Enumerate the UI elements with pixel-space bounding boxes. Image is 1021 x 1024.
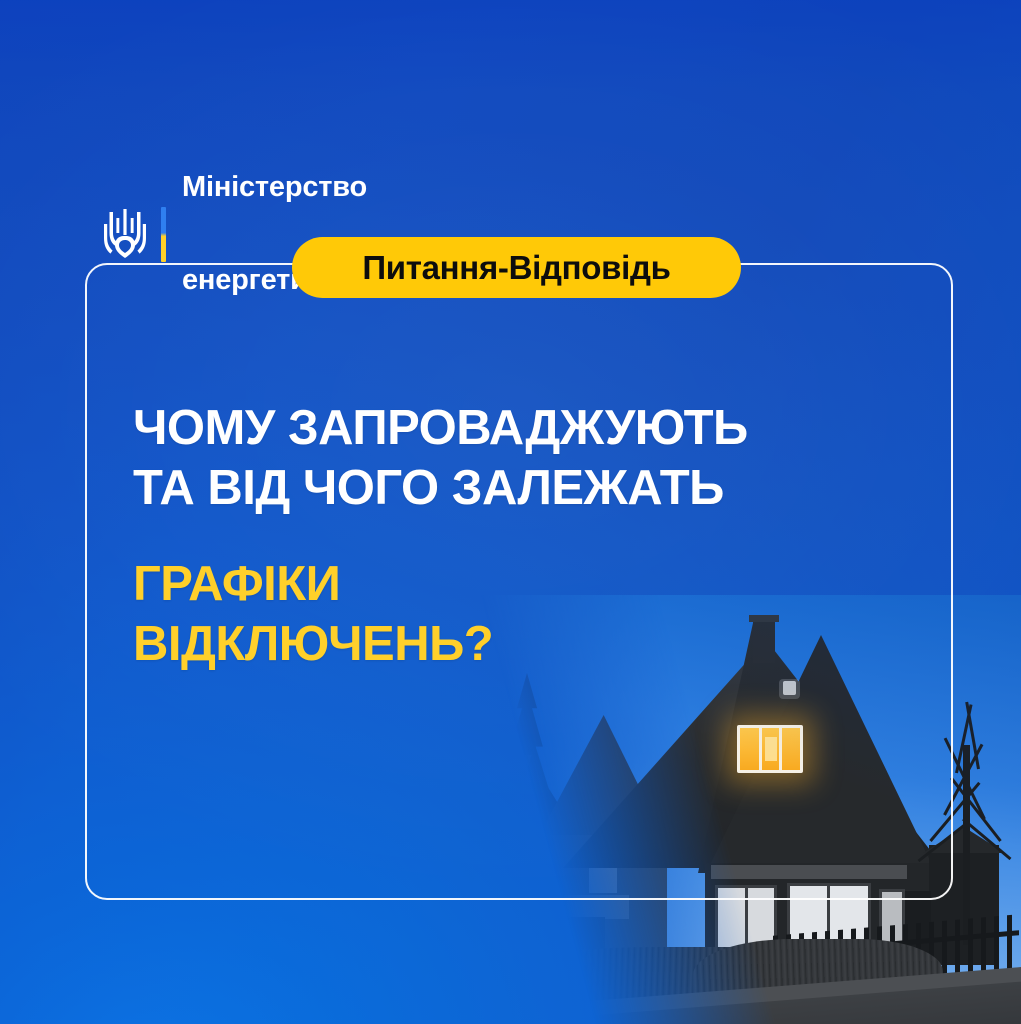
lit-window-interior bbox=[765, 737, 777, 761]
neighbour-window bbox=[453, 913, 469, 947]
lit-window-mullion bbox=[759, 728, 762, 770]
headline-block: ЧОМУ ЗАПРОВАДЖУЮТЬ ТА ВІД ЧОГО ЗАЛЕЖАТЬ … bbox=[133, 398, 893, 674]
lit-window-mullion bbox=[779, 728, 782, 770]
neighbour-window bbox=[477, 857, 489, 903]
neighbour-window bbox=[457, 857, 469, 903]
question-answer-badge-label: Питання-Відповідь bbox=[362, 249, 670, 287]
ground-window-mullion bbox=[745, 885, 748, 951]
ministry-logo: Міністерство енергетики України bbox=[103, 110, 455, 358]
poster-canvas: Міністерство енергетики України Питання-… bbox=[0, 0, 1021, 1024]
bay-window-awning bbox=[711, 865, 907, 879]
neighbour-window bbox=[477, 913, 493, 947]
question-answer-badge: Питання-Відповідь bbox=[292, 237, 741, 298]
headline-line-2: ТА ВІД ЧОГО ЗАЛЕЖАТЬ bbox=[133, 458, 893, 518]
wall-lamp-icon bbox=[783, 681, 796, 695]
ministry-logo-line-1: Міністерство bbox=[182, 172, 455, 203]
headline-line-4: ВІДКЛЮЧЕНЬ? bbox=[133, 614, 893, 674]
ukraine-trident-icon bbox=[103, 205, 147, 263]
headline-line-3: ГРАФІКИ bbox=[133, 554, 893, 614]
side-wing-porch-roof bbox=[543, 895, 629, 919]
logo-divider-bar bbox=[161, 207, 166, 262]
headline-spacer bbox=[133, 518, 893, 554]
headline-line-1: ЧОМУ ЗАПРОВАДЖУЮТЬ bbox=[133, 398, 893, 458]
neighbour-roof-dormer bbox=[482, 755, 531, 771]
ministry-logo-text: Міністерство енергетики України bbox=[182, 110, 455, 358]
